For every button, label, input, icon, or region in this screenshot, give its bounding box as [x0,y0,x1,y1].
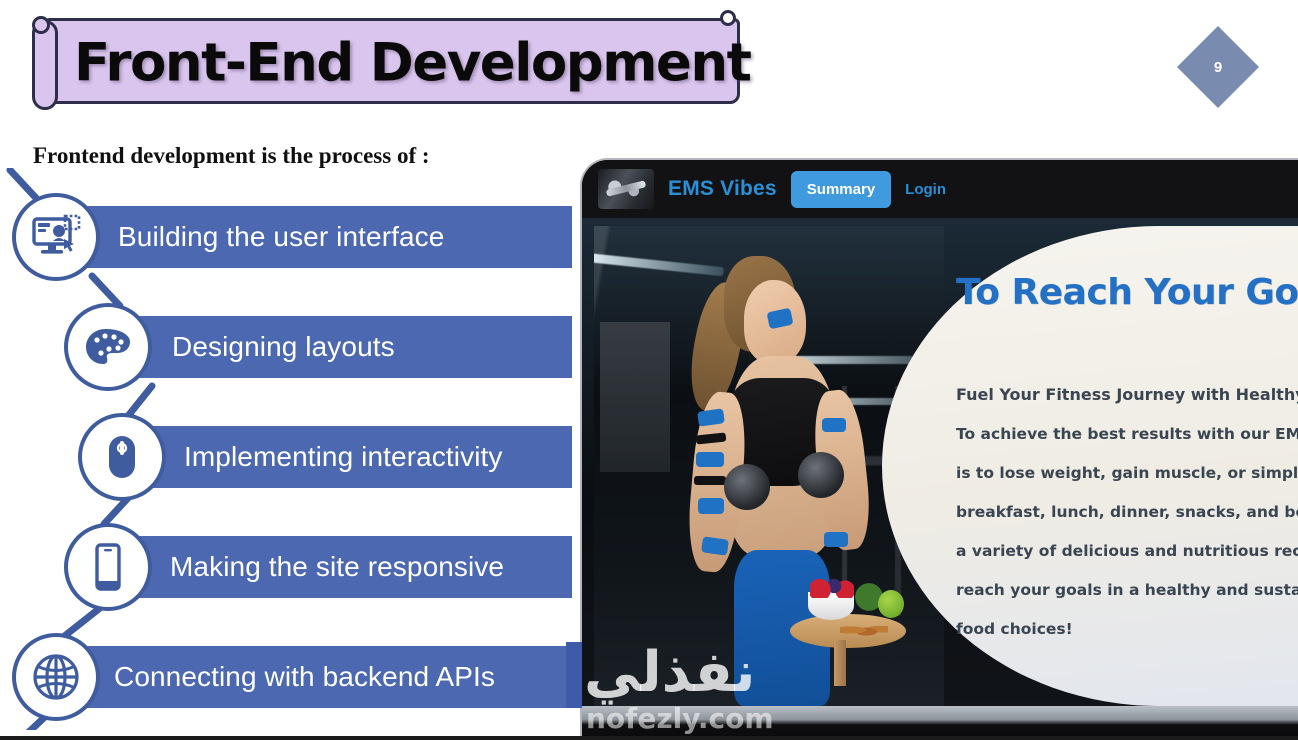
green-apple [878,590,904,618]
title-banner: Front-End Development [18,14,740,114]
ems-pad [698,498,724,514]
mockup-base-bar [582,706,1298,740]
banner-curl-knob-top-left-icon [32,16,50,34]
process-bar-3[interactable]: Implementing interactivity [132,426,572,488]
summary-button[interactable]: Summary [791,171,891,208]
panel-body-line: To achieve the best results with our EMS… [956,425,1298,443]
berries [810,578,854,598]
hero-section: To Reach Your Goal Fuel Your Fitness Jou… [582,218,1298,740]
brand-name: EMS Vibes [668,177,777,201]
lead-text: Frontend development is the process of : [33,143,430,169]
panel-body-line: food choices! [956,620,1298,638]
process-label-1: Building the user interface [118,221,444,253]
process-label-3: Implementing interactivity [184,441,503,473]
ems-pad [824,532,848,547]
gym-equipment-block [600,322,670,472]
website-mockup: EMS Vibes Summary Login [582,160,1298,740]
food-stool [790,588,906,684]
panel-body-line: breakfast, lunch, dinner, snacks, and be… [956,503,1298,521]
ems-pad [822,418,846,432]
content-panel: To Reach Your Goal Fuel Your Fitness Jou… [882,226,1298,706]
stool-leg [834,640,846,686]
process-label-2: Designing layouts [172,331,395,363]
mouse-icon [105,433,139,481]
process-bar-4[interactable]: Making the site responsive [112,536,572,598]
panel-body-line: reach your goals in a healthy and sustai… [956,581,1298,599]
dumbbell-logo-icon [598,169,654,209]
process-icon-circle-4[interactable] [64,523,152,611]
login-link[interactable]: Login [905,181,946,198]
slide-canvas: Front-End Development 9 Frontend develop… [0,0,1298,740]
nuts [840,622,888,638]
process-icon-circle-2[interactable] [64,303,152,391]
process-chain: Building the user interface Designing [0,168,600,730]
process-label-4: Making the site responsive [170,551,504,583]
process-icon-circle-3[interactable] [78,413,166,501]
mobile-phone-icon [92,543,124,591]
page-title: Front-End Development [74,32,750,93]
process-bar-5[interactable]: Connecting with backend APIs [48,646,572,708]
panel-body-line: a variety of delicious and nutritious re… [956,542,1298,560]
process-label-5: Connecting with backend APIs [114,661,495,693]
process-icon-circle-1[interactable] [12,193,100,281]
panel-heading: To Reach Your Goal [956,272,1298,313]
page-number-value: 9 [1189,38,1247,96]
process-icon-circle-5[interactable] [12,633,100,721]
ems-strap [694,476,726,485]
page-number-badge: 9 [1177,26,1259,108]
palette-icon [84,326,132,368]
dumbbell [798,452,844,498]
panel-body-line: is to lose weight, gain muscle, or simpl… [956,464,1298,482]
monitor-ui-icon [30,213,82,261]
ems-pad [696,452,724,467]
banner-scroll-curl-icon [32,20,58,110]
process-bar-1[interactable]: Building the user interface [48,206,572,268]
globe-icon [31,652,81,702]
banner-curl-knob-top-right-icon [720,10,736,26]
dumbbell [724,464,770,510]
panel-subheading: Fuel Your Fitness Journey with Healthy E… [956,385,1298,404]
ems-pad [701,536,729,555]
mockup-navbar: EMS Vibes Summary Login [582,160,1298,218]
process-bar-2[interactable]: Designing layouts [120,316,572,378]
